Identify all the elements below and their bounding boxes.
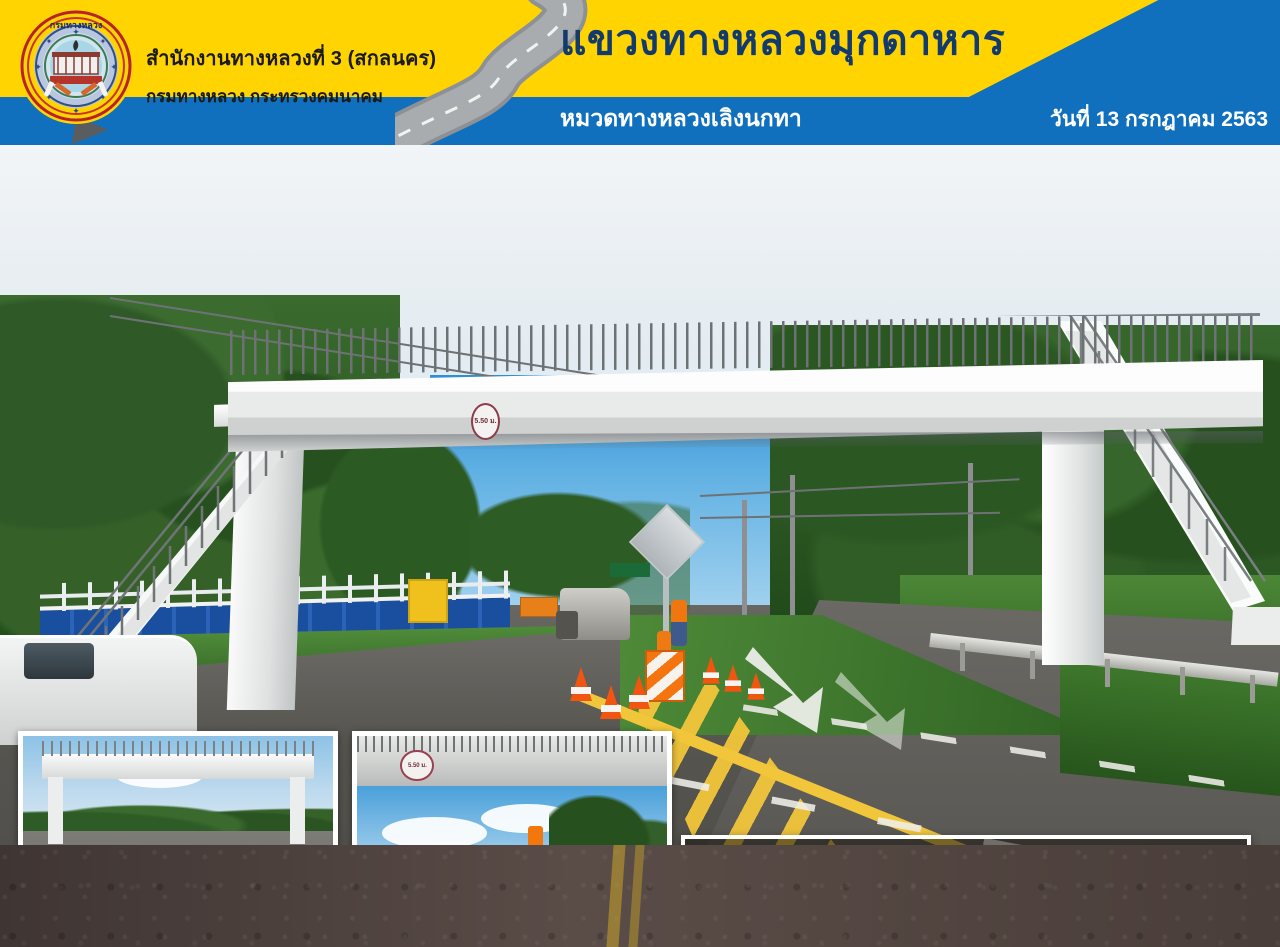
traffic-cone <box>570 667 592 701</box>
inset1-bridge-railing <box>42 741 315 757</box>
guardrail-post <box>1105 659 1110 687</box>
orange-roadside-sign <box>520 597 558 617</box>
date-label: วันที่ 13 กรกฎาคม 2563 <box>1050 103 1268 136</box>
guardrail-post <box>1180 667 1185 695</box>
page-header: กรมทางหลวง ✦ ✦ ✦ ✦ ✦ ✦ ✦ ✦ สำนักงานทางหล… <box>0 0 1280 145</box>
guardrail-post <box>1030 651 1035 679</box>
traffic-cone <box>600 685 622 719</box>
overhead-green-sign <box>610 563 650 577</box>
inset2-bridge-railing <box>357 736 667 752</box>
svg-text:✦: ✦ <box>34 62 42 72</box>
worker <box>671 600 687 646</box>
guardrail-post <box>960 643 965 671</box>
truck-cab <box>556 611 578 639</box>
traffic-cone <box>747 672 765 699</box>
inset-photo-2: 5.50 ม. <box>352 731 672 845</box>
office-name: สำนักงานทางหลวงที่ 3 (สกลนคร) <box>146 42 436 74</box>
page-footer: แขวงทางหลวงมุกดาหาร 042 -612006 G+ mukda… <box>0 845 1280 947</box>
pickup-window <box>24 643 94 679</box>
road-yellow-line <box>628 845 644 947</box>
photo-caption-box: งานทาสีสะพานลอยคนเดินข้าม ทล.212 ตอน นาโ… <box>681 835 1251 845</box>
inset1-road <box>23 831 333 845</box>
worker <box>528 826 544 845</box>
main-photo: 5.50 ม. <box>0 145 1280 845</box>
svg-text:✦: ✦ <box>72 27 80 37</box>
inset-photo-1: ลดความเร็ว REDUCE SPEED <box>18 731 338 845</box>
page-title: แขวงทางหลวงมุกดาหาร <box>560 20 1005 61</box>
svg-text:✦: ✦ <box>100 37 107 46</box>
inset1-bridge-deck <box>42 754 315 779</box>
inset1-pier-left <box>48 777 64 845</box>
clearance-height-sign: 5.50 ม. <box>471 403 500 440</box>
traffic-barrier <box>645 650 685 702</box>
road-merge-arrow <box>835 670 945 755</box>
svg-text:✦: ✦ <box>110 62 118 72</box>
guardrail-post <box>1250 675 1255 703</box>
traffic-cone <box>702 656 720 683</box>
utility-pole <box>790 475 795 625</box>
inset1-pier-right <box>290 777 306 845</box>
page-subtitle: หมวดทางหลวงเลิงนกทา <box>560 101 802 137</box>
svg-text:✦: ✦ <box>100 93 107 102</box>
traffic-cone <box>724 664 742 691</box>
doh-logo-icon: กรมทางหลวง ✦ ✦ ✦ ✦ ✦ ✦ ✦ ✦ <box>12 4 140 145</box>
department-name: กรมทางหลวง กระทรวงคมนาคม <box>146 83 383 110</box>
road-yellow-line <box>606 845 625 947</box>
poster-root: กรมทางหลวง ✦ ✦ ✦ ✦ ✦ ✦ ✦ ✦ สำนักงานทางหล… <box>0 0 1280 947</box>
svg-text:✦: ✦ <box>72 106 80 116</box>
svg-text:✦: ✦ <box>46 93 53 102</box>
yellow-roadside-sign <box>408 579 448 623</box>
traffic-cone <box>628 675 650 709</box>
svg-text:✦: ✦ <box>46 37 53 46</box>
inset2-trees-right <box>549 795 672 845</box>
